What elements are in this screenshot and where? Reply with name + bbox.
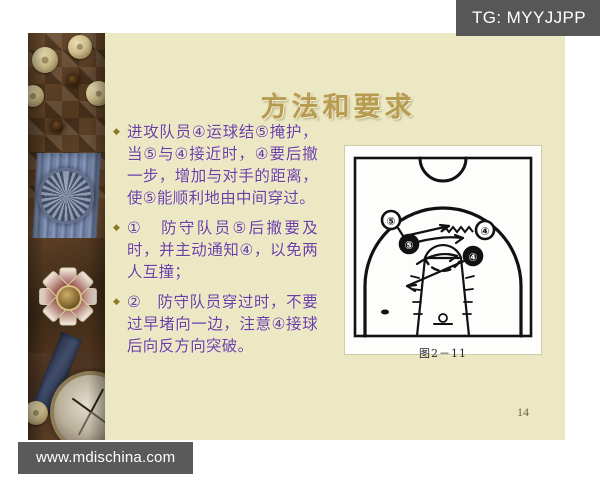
court-svg: ⑤ ⑤ ④ ④	[345, 146, 541, 354]
basketball-court-diagram: ⑤ ⑤ ④ ④	[345, 146, 541, 354]
arrow-head-defender	[407, 285, 416, 291]
figure-caption: 图2－11	[345, 345, 541, 361]
telegram-watermark: TG: MYYJJPP	[456, 0, 600, 36]
player-token-four-open-label: ④	[480, 225, 489, 238]
scan-artifact-mark	[381, 310, 389, 315]
screen-path	[417, 237, 463, 242]
arrow-head-screen	[455, 235, 463, 243]
player-token-five-open-label: ⑤	[386, 215, 395, 228]
bullet-text: 进攻队员④运球结⑤掩护，当⑤与④接近时，④要后撤一步，增加与对手的距离，使⑤能顺…	[127, 121, 318, 209]
bullet-text: ② 防守队员穿过时，不要过早堵向一边，注意④接球后向反方向突破。	[127, 291, 318, 357]
bullet-list: ◆ 进攻队员④运球结⑤掩护，当⑤与④接近时，④要后撤一步，增加与对手的距离，使⑤…	[113, 121, 318, 365]
list-item: ◆ ② 防守队员穿过时，不要过早堵向一边，注意④接球后向反方向突破。	[113, 291, 318, 357]
slide-title: 方法和要求	[128, 85, 548, 124]
button-disc-icon	[32, 47, 58, 73]
medal-center-hub	[56, 285, 82, 311]
hoop	[439, 314, 447, 322]
court-boundary	[355, 158, 531, 336]
list-item: ◆ ① 防守队员⑤后撤要及时，并主动通知④，以免两人互撞；	[113, 217, 318, 283]
diamond-bullet-icon: ◆	[113, 127, 127, 136]
player-token-four-filled-label: ④	[468, 251, 477, 264]
page-number: 14	[517, 405, 529, 420]
wood-knob-icon	[68, 75, 79, 86]
wood-knob-icon	[52, 121, 63, 132]
rosette-spokes	[38, 168, 94, 224]
rosette-medal	[38, 168, 94, 224]
presentation-slide: 方法和要求 ◆ 进攻队员④运球结⑤掩护，当⑤与④接近时，④要后撤一步，增加与对手…	[28, 33, 565, 440]
button-disc-icon	[68, 35, 92, 59]
bullet-text: ① 防守队员⑤后撤要及时，并主动通知④，以免两人互撞；	[127, 217, 318, 283]
list-item: ◆ 进攻队员④运球结⑤掩护，当⑤与④接近时，④要后撤一步，增加与对手的距离，使⑤…	[113, 121, 318, 209]
diamond-bullet-icon: ◆	[113, 297, 127, 306]
screen-zigzag-icon	[441, 227, 473, 232]
decorative-image-strip	[28, 33, 105, 440]
center-circle-arc	[420, 158, 466, 181]
player-token-five-filled-label: ⑤	[404, 239, 413, 252]
diamond-bullet-icon: ◆	[113, 223, 127, 232]
site-watermark: www.mdischina.com	[18, 442, 193, 474]
button-disc-icon	[86, 81, 105, 106]
